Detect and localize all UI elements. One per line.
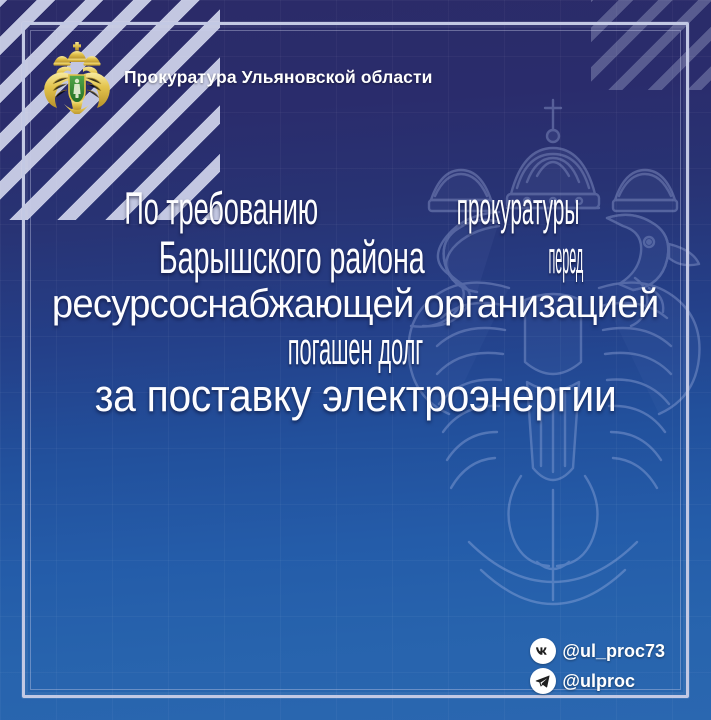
headline-line-2: прокуратуры bbox=[457, 186, 580, 231]
headline-line-6: погашен долг bbox=[288, 326, 423, 371]
social-handles: @ul_proc73 @ulproc bbox=[530, 638, 665, 694]
header: Прокуратура Ульяновской области bbox=[30, 34, 670, 120]
headline-line-7: за поставку электроэнергии bbox=[95, 373, 617, 418]
social-row-telegram[interactable]: @ulproc bbox=[530, 668, 635, 694]
russian-prosecutor-eagle-emblem-icon bbox=[44, 40, 110, 114]
telegram-handle[interactable]: @ulproc bbox=[562, 671, 635, 692]
social-row-vk[interactable]: @ul_proc73 bbox=[530, 638, 665, 664]
headline-line-5: ресурсоснабжающей организацией bbox=[52, 284, 659, 324]
headline-line-3: Барышского района bbox=[158, 235, 424, 280]
vk-handle[interactable]: @ul_proc73 bbox=[562, 641, 665, 662]
headline-block: По требованию прокуратуры Барышского рай… bbox=[0, 186, 711, 418]
vk-icon[interactable] bbox=[530, 638, 556, 664]
headline-line-4: перед bbox=[548, 235, 583, 280]
headline-line-1: По требованию bbox=[124, 186, 318, 231]
poster-canvas: Прокуратура Ульяновской области По требо… bbox=[0, 0, 711, 720]
telegram-icon[interactable] bbox=[530, 668, 556, 694]
page-title: Прокуратура Ульяновской области bbox=[124, 67, 433, 88]
